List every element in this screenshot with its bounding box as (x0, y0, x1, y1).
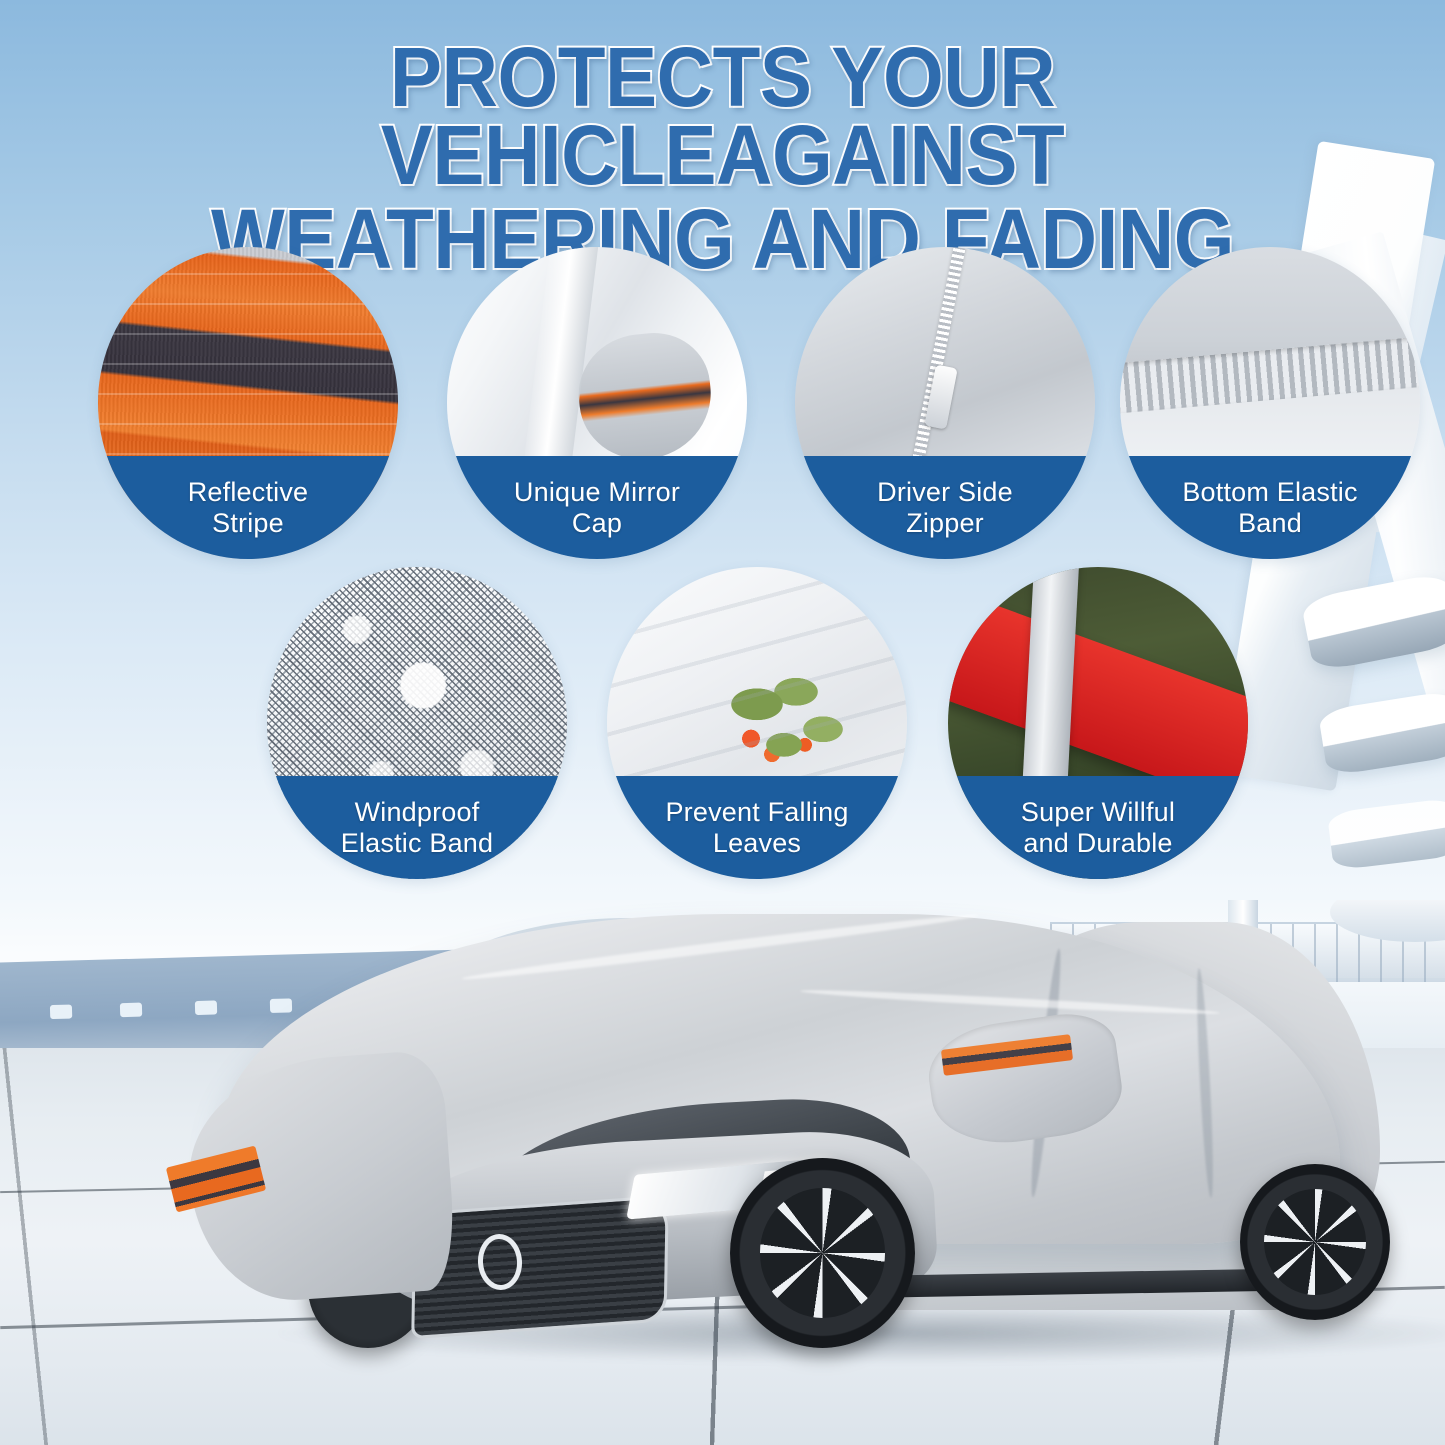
feature-caption: Prevent FallingLeaves (607, 776, 907, 879)
feature-caption: Unique MirrorCap (447, 456, 747, 559)
feature-caption: WindproofElastic Band (267, 776, 567, 879)
feature-circle-prevent-falling-leaves[interactable]: Prevent FallingLeaves (607, 567, 907, 879)
feature-label: Prevent FallingLeaves (655, 797, 858, 857)
feature-label: ReflectiveStripe (178, 477, 319, 537)
feature-label: Unique MirrorCap (504, 477, 690, 537)
feature-circle-bottom-elastic-band[interactable]: Bottom ElasticBand (1120, 247, 1420, 559)
hero-scene (0, 900, 1445, 1445)
feature-circle-unique-mirror-cap[interactable]: Unique MirrorCap (447, 247, 747, 559)
covered-car (160, 908, 1390, 1338)
feature-circle-driver-side-zipper[interactable]: Driver SideZipper (795, 247, 1095, 559)
page-title: PROTECTS YOUR VEHICLEAGAINST WEATHERING … (0, 38, 1445, 278)
feature-circle-reflective-stripe[interactable]: ReflectiveStripe (98, 247, 398, 559)
feature-label: WindproofElastic Band (331, 797, 503, 857)
feature-label: Super Willfuland Durable (1011, 797, 1185, 857)
canopy-slab-5 (1327, 797, 1445, 870)
feature-circle-windproof-elastic-band[interactable]: WindproofElastic Band (267, 567, 567, 879)
feature-label: Driver SideZipper (867, 477, 1023, 537)
feature-label: Bottom ElasticBand (1172, 477, 1367, 537)
feature-caption: Super Willfuland Durable (948, 776, 1248, 879)
feature-caption: Driver SideZipper (795, 456, 1095, 559)
feature-caption: ReflectiveStripe (98, 456, 398, 559)
feature-circle-super-willful-and-durable[interactable]: Super Willfuland Durable (948, 567, 1248, 879)
wheel-front (730, 1158, 915, 1348)
wheel-rear (1240, 1164, 1390, 1320)
title-line-1: PROTECTS YOUR VEHICLEAGAINST (51, 38, 1395, 194)
feature-caption: Bottom ElasticBand (1120, 456, 1420, 559)
product-feature-infographic: PROTECTS YOUR VEHICLEAGAINST WEATHERING … (0, 0, 1445, 1445)
